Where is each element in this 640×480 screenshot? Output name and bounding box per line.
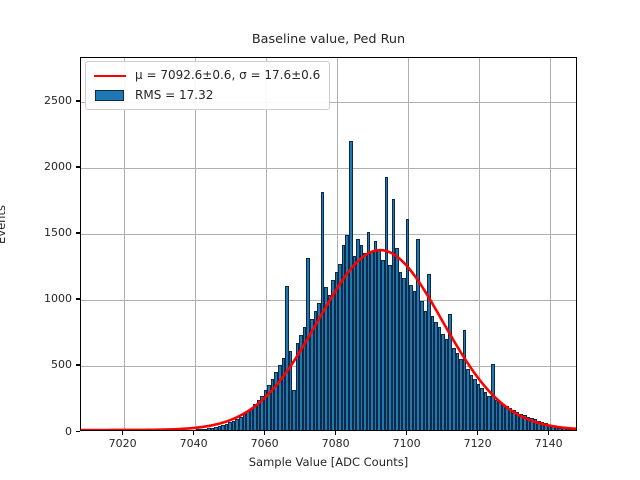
x-tick-mark: [477, 431, 478, 435]
blue-patch-icon: [94, 89, 126, 102]
y-tick-mark: [76, 364, 80, 365]
x-tick-mark: [264, 431, 265, 435]
x-tick-mark: [335, 431, 336, 435]
legend-label-rms: RMS = 17.32: [135, 89, 213, 102]
x-tick-label: 7120: [448, 438, 508, 449]
plot-area: [80, 57, 577, 431]
y-tick-mark: [76, 166, 80, 167]
gaussian-fit-curve: [81, 58, 576, 430]
x-tick-mark: [406, 431, 407, 435]
y-tick-mark: [76, 298, 80, 299]
x-tick-label: 7020: [93, 438, 153, 449]
y-axis-label: Events: [0, 205, 8, 244]
x-tick-label: 7100: [377, 438, 437, 449]
x-axis-label: Sample Value [ADC Counts]: [80, 455, 577, 469]
x-tick-label: 7040: [164, 438, 224, 449]
y-tick-label: 1000: [10, 293, 72, 304]
legend: μ = 7092.6±0.6, σ = 17.6±0.6 RMS = 17.32: [85, 61, 330, 110]
legend-item-rms: RMS = 17.32: [94, 88, 320, 103]
y-tick-label: 1500: [10, 227, 72, 238]
x-tick-label: 7080: [306, 438, 366, 449]
legend-item-fit: μ = 7092.6±0.6, σ = 17.6±0.6: [94, 68, 320, 83]
red-line-icon: [94, 69, 126, 82]
legend-label-fit: μ = 7092.6±0.6, σ = 17.6±0.6: [135, 69, 320, 82]
y-tick-label: 500: [10, 359, 72, 370]
y-tick-label: 0: [10, 426, 72, 437]
y-tick-mark: [76, 100, 80, 101]
histogram-figure: Baseline value, Ped Run 0500100015002000…: [0, 0, 640, 480]
y-tick-label: 2000: [10, 161, 72, 172]
page-title: Baseline value, Ped Run: [80, 32, 577, 47]
x-tick-label: 7140: [519, 438, 579, 449]
x-tick-mark: [193, 431, 194, 435]
y-tick-mark: [76, 232, 80, 233]
x-tick-mark: [548, 431, 549, 435]
y-tick-mark: [76, 431, 80, 432]
x-tick-mark: [122, 431, 123, 435]
x-tick-label: 7060: [235, 438, 295, 449]
y-tick-label: 2500: [10, 95, 72, 106]
